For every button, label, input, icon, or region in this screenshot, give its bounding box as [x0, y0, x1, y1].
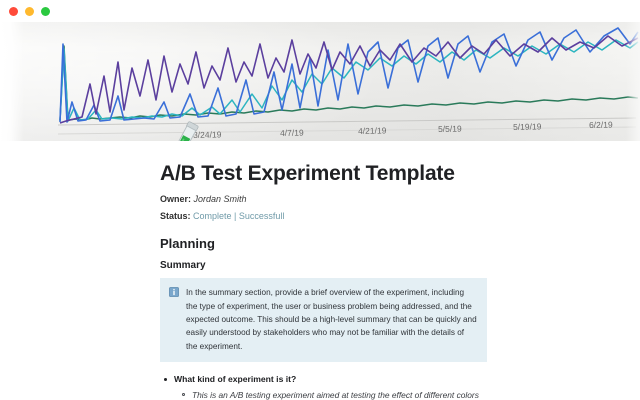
minimize-button[interactable] — [25, 7, 34, 16]
axis-label-3: 5/5/19 — [438, 124, 462, 134]
test-tube-icon — [163, 117, 203, 141]
hero-banner: 3/24/19 4/7/19 4/21/19 5/5/19 5/19/19 6/… — [0, 22, 640, 141]
section-heading-summary: Summary — [160, 260, 485, 271]
chart-axis-labels: 3/24/19 4/7/19 4/21/19 5/5/19 5/19/19 6/… — [0, 124, 640, 141]
status-line: Status: Complete | Successfull — [160, 211, 485, 223]
banner-left-fade — [0, 22, 24, 141]
window-titlebar — [0, 0, 640, 22]
status-label: Status: — [160, 211, 191, 221]
question-text: What kind of experiment is it? — [174, 374, 296, 384]
owner-value: Jordan Smith — [194, 194, 247, 204]
document-body: A/B Test Experiment Template Owner: Jord… — [0, 141, 640, 400]
owner-line: Owner: Jordan Smith — [160, 194, 485, 206]
maximize-button[interactable] — [41, 7, 50, 16]
info-callout: In the summary section, provide a brief … — [160, 278, 487, 361]
info-icon — [169, 287, 179, 297]
owner-label: Owner: — [160, 194, 191, 204]
axis-label-5: 6/2/19 — [589, 120, 613, 130]
status-badge[interactable]: Complete | Successfull — [193, 211, 284, 221]
axis-label-1: 4/7/19 — [280, 128, 304, 138]
axis-label-4: 5/19/19 — [513, 121, 542, 132]
page-title: A/B Test Experiment Template — [160, 162, 485, 185]
section-heading-planning: Planning — [160, 236, 485, 251]
banner-right-fade — [626, 22, 640, 141]
app-window: 3/24/19 4/7/19 4/21/19 5/5/19 5/19/19 6/… — [0, 0, 640, 400]
list-item: What kind of experiment is it? This is a… — [174, 373, 485, 400]
questions-list: What kind of experiment is it? This is a… — [160, 373, 485, 400]
callout-text: In the summary section, provide a brief … — [186, 286, 477, 352]
list-item: This is an A/B testing experiment aimed … — [192, 389, 485, 400]
axis-label-2: 4/21/19 — [358, 125, 387, 136]
close-button[interactable] — [9, 7, 18, 16]
answers-list: This is an A/B testing experiment aimed … — [174, 389, 485, 400]
